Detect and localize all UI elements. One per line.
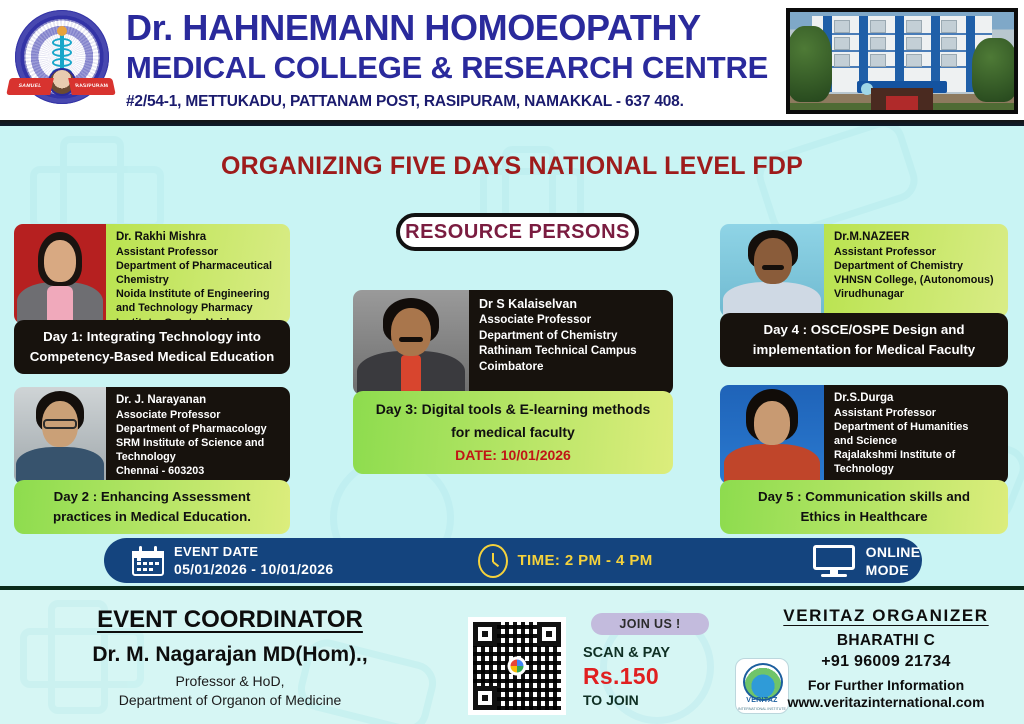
event-mode-line2: MODE bbox=[866, 561, 921, 579]
speaker-card-day2: Dr. J. Narayanan Associate Professor Dep… bbox=[14, 387, 290, 534]
crest-ribbon-left: SAMUEL bbox=[6, 78, 54, 95]
speaker-photo-day4 bbox=[720, 224, 824, 317]
speaker-card-day3: Dr S Kalaiselvan Associate Professor Dep… bbox=[353, 290, 673, 474]
qr-finder-top-right bbox=[537, 622, 561, 646]
crest-ribbon-right: RASIPURAM bbox=[68, 78, 116, 95]
speaker-photo-day3 bbox=[353, 290, 469, 395]
day-topic-line: Day 2 : Enhancing Assessment bbox=[22, 487, 282, 507]
event-date-value: 05/01/2026 - 10/01/2026 bbox=[174, 560, 333, 578]
day-topic-banner-day1: Day 1: Integrating Technology into Compe… bbox=[14, 320, 290, 374]
college-building-photo bbox=[786, 8, 1018, 114]
college-name-line2: MEDICAL COLLEGE & RESEARCH CENTRE bbox=[126, 50, 776, 86]
scan-and-pay-label: SCAN & PAY bbox=[583, 645, 733, 661]
resource-persons-label: RESOURCE PERSONS bbox=[405, 221, 630, 244]
organizer-heading: VERITAZ ORGANIZER bbox=[748, 606, 1024, 626]
speaker-photo-day5 bbox=[720, 385, 824, 484]
poster-header: SAMUEL RASIPURAM Dr. HAHNEMANN HOMOEOPAT… bbox=[0, 0, 1024, 123]
to-join-label: TO JOIN bbox=[583, 692, 733, 708]
day-topic-line: Competency-Based Medical Education bbox=[22, 347, 282, 367]
google-pay-icon bbox=[508, 657, 527, 676]
organizer-phone: +91 96009 21734 bbox=[748, 653, 1024, 671]
speaker-card-day1: Dr. Rakhi Mishra Assistant Professor Dep… bbox=[14, 224, 290, 374]
speaker-name: Dr S Kalaiselvan bbox=[479, 296, 665, 312]
speaker-line: Technology bbox=[834, 462, 1000, 476]
speaker-line: Department of Pharmacology bbox=[116, 422, 282, 436]
speaker-line: Department of Chemistry bbox=[479, 328, 665, 344]
speaker-line: Virudhunagar bbox=[834, 287, 1000, 301]
fee-amount: Rs.150 bbox=[583, 663, 733, 690]
calendar-icon bbox=[132, 546, 164, 576]
resource-persons-badge: RESOURCE PERSONS bbox=[396, 213, 639, 251]
event-coordinator-block: EVENT COORDINATOR Dr. M. Nagarajan MD(Ho… bbox=[0, 606, 460, 708]
speaker-line: Chemistry bbox=[116, 273, 282, 287]
speaker-card-day5: Dr.S.Durga Assistant Professor Departmen… bbox=[720, 385, 1008, 534]
speaker-line: Chennai - 603203 bbox=[116, 464, 282, 478]
day-topic-banner-day5: Day 5 : Communication skills and Ethics … bbox=[720, 480, 1008, 534]
college-address: #2/54-1, METTUKADU, PATTANAM POST, RASIP… bbox=[126, 93, 776, 111]
fdp-main-title: ORGANIZING FIVE DAYS NATIONAL LEVEL FDP bbox=[0, 152, 1024, 181]
organizer-name: BHARATHI C bbox=[748, 632, 1024, 650]
day-topic-banner-day2: Day 2 : Enhancing Assessment practices i… bbox=[14, 480, 290, 534]
coordinator-role: Professor & HoD, bbox=[0, 673, 460, 689]
event-time-value: TIME: 2 PM - 4 PM bbox=[517, 552, 652, 569]
qr-finder-top-left bbox=[473, 622, 497, 646]
speaker-info-day4: Dr.M.NAZEER Assistant Professor Departme… bbox=[824, 224, 1008, 317]
day-topic-line: practices in Medical Education. bbox=[22, 507, 282, 527]
coordinator-department: Department of Organon of Medicine bbox=[0, 692, 460, 708]
speaker-line: Assistant Professor bbox=[834, 406, 1000, 420]
event-mode-group: ONLINE MODE bbox=[813, 543, 921, 579]
speaker-info-day2: Dr. J. Narayanan Associate Professor Dep… bbox=[106, 387, 290, 484]
speaker-line: Coimbatore bbox=[479, 359, 665, 375]
organizer-website[interactable]: www.veritazinternational.com bbox=[748, 694, 1024, 710]
day-topic-line: Day 3: Digital tools & E-learning method… bbox=[361, 398, 665, 421]
speaker-line: Department of Humanities bbox=[834, 420, 1000, 434]
day-topic-line: for medical faculty bbox=[361, 421, 665, 444]
speaker-card-day4: Dr.M.NAZEER Assistant Professor Departme… bbox=[720, 224, 1008, 367]
clock-icon bbox=[478, 544, 508, 578]
day-topic-banner-day4: Day 4 : OSCE/OSPE Design and implementat… bbox=[720, 313, 1008, 367]
event-date-group: EVENT DATE 05/01/2026 - 10/01/2026 bbox=[132, 543, 333, 578]
speaker-name: Dr.M.NAZEER bbox=[834, 230, 1000, 245]
speaker-line: SRM Institute of Science and bbox=[116, 436, 282, 450]
speaker-photo-day2 bbox=[14, 387, 106, 484]
organizer-block: VERITAZ ORGANIZER BHARATHI C +91 96009 2… bbox=[748, 606, 1024, 710]
join-us-label: JOIN US ! bbox=[619, 617, 680, 631]
day-topic-line: implementation for Medical Faculty bbox=[728, 340, 1000, 360]
join-payment-block: JOIN US ! SCAN & PAY Rs.150 TO JOIN bbox=[583, 613, 733, 708]
speaker-line: Noida Institute of Engineering bbox=[116, 287, 282, 301]
speaker-line: Department of Chemistry bbox=[834, 259, 1000, 273]
poster-root: SAMUEL RASIPURAM Dr. HAHNEMANN HOMOEOPAT… bbox=[0, 0, 1024, 724]
speaker-name: Dr. J. Narayanan bbox=[116, 393, 282, 408]
event-date-label: EVENT DATE bbox=[174, 543, 333, 560]
college-name-line1: Dr. HAHNEMANN HOMOEOPATHY bbox=[126, 8, 776, 48]
speaker-line: Associate Professor bbox=[116, 408, 282, 422]
crest-ribbon-left-label: SAMUEL bbox=[6, 78, 54, 95]
day-topic-line: Day 5 : Communication skills and bbox=[728, 487, 1000, 507]
speaker-name: Dr.S.Durga bbox=[834, 391, 1000, 406]
day-topic-line: Day 4 : OSCE/OSPE Design and bbox=[728, 320, 1000, 340]
crest-ribbon-right-label: RASIPURAM bbox=[68, 78, 116, 95]
speaker-line: Rajalakshmi Institute of bbox=[834, 448, 1000, 462]
day-topic-line: Ethics in Healthcare bbox=[728, 507, 1000, 527]
coordinator-name: Dr. M. Nagarajan MD(Hom)., bbox=[0, 643, 460, 667]
further-info-label: For Further Information bbox=[748, 677, 1024, 693]
event-time-group: TIME: 2 PM - 4 PM bbox=[478, 544, 652, 578]
speaker-info-day5: Dr.S.Durga Assistant Professor Departmen… bbox=[824, 385, 1008, 484]
day-topic-line: Day 1: Integrating Technology into bbox=[22, 327, 282, 347]
speaker-info-day1: Dr. Rakhi Mishra Assistant Professor Dep… bbox=[106, 224, 290, 324]
college-title-block: Dr. HAHNEMANN HOMOEOPATHY MEDICAL COLLEG… bbox=[126, 8, 776, 111]
speaker-info-day3: Dr S Kalaiselvan Associate Professor Dep… bbox=[469, 290, 673, 395]
qr-finder-bottom-left bbox=[473, 686, 497, 710]
speaker-line: Associate Professor bbox=[479, 312, 665, 328]
join-us-badge: JOIN US ! bbox=[591, 613, 709, 635]
speaker-line: and Technology Pharmacy bbox=[116, 301, 282, 315]
payment-qr-code[interactable] bbox=[468, 617, 566, 715]
day3-date-line: DATE: 10/01/2026 bbox=[361, 444, 665, 467]
speaker-line: Rathinam Technical Campus bbox=[479, 343, 665, 359]
event-mode-line1: ONLINE bbox=[866, 543, 921, 561]
day-topic-banner-day3: Day 3: Digital tools & E-learning method… bbox=[353, 391, 673, 474]
speaker-line: and Science bbox=[834, 434, 1000, 448]
event-details-bar: EVENT DATE 05/01/2026 - 10/01/2026 TIME:… bbox=[104, 538, 922, 583]
college-crest-icon: SAMUEL RASIPURAM bbox=[6, 6, 118, 118]
speaker-name: Dr. Rakhi Mishra bbox=[116, 230, 282, 245]
speaker-line: Department of Pharmaceutical bbox=[116, 259, 282, 273]
coordinator-heading: EVENT COORDINATOR bbox=[0, 606, 460, 634]
monitor-icon bbox=[813, 545, 855, 577]
speaker-photo-day1 bbox=[14, 224, 106, 324]
speaker-line: Technology bbox=[116, 450, 282, 464]
speaker-line: VHNSN College, (Autonomous) bbox=[834, 273, 1000, 287]
speaker-line: Assistant Professor bbox=[116, 245, 282, 259]
speaker-line: Assistant Professor bbox=[834, 245, 1000, 259]
